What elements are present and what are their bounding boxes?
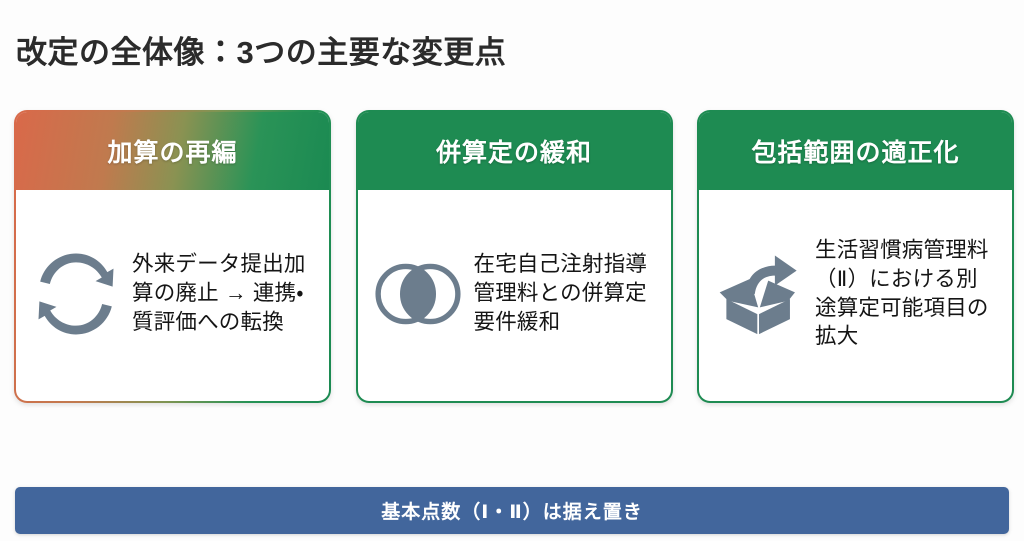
card-heisantei-kanwa[interactable]: 併算定の緩和 [356,110,673,403]
cards-row: 加算の再編 外来データ提出加算の廃止 → 連携・質評価への転換 併算定の緩和 [14,110,1014,403]
open-box-arrow-icon [711,246,807,342]
card-description: 外来データ提出加算の廃止 → 連携・質評価への転換 [132,250,315,336]
venn-diagram-icon [370,246,466,342]
card-header-title: 加算の再編 [16,112,329,190]
card-inner: 包括範囲の適正化 生活習慣病管理料（Ⅱ）における別途算定 [699,112,1012,401]
refresh-cycle-icon [28,246,124,342]
card-houkatsu-hani[interactable]: 包括範囲の適正化 生活習慣病管理料（Ⅱ）における別途算定 [697,110,1014,403]
footer-banner: 基本点数（Ⅰ・Ⅱ）は据え置き [15,487,1009,534]
card-body: 在宅自己注射指導管理料との併算定要件緩和 [358,190,671,401]
card-kasan-saihen[interactable]: 加算の再編 外来データ提出加算の廃止 → 連携・質評価への転換 [14,110,331,403]
card-header-title: 併算定の緩和 [358,112,671,190]
card-body: 外来データ提出加算の廃止 → 連携・質評価への転換 [16,190,329,401]
card-inner: 併算定の緩和 [358,112,671,401]
page-title: 改定の全体像：3つの主要な変更点 [16,27,506,72]
card-body: 生活習慣病管理料（Ⅱ）における別途算定可能項目の拡大 [699,190,1012,401]
card-inner: 加算の再編 外来データ提出加算の廃止 → 連携・質評価への転換 [16,112,329,401]
card-description: 在宅自己注射指導管理料との併算定要件緩和 [474,250,657,336]
card-header-title: 包括範囲の適正化 [699,112,1012,190]
card-description: 生活習慣病管理料（Ⅱ）における別途算定可能項目の拡大 [815,236,998,351]
